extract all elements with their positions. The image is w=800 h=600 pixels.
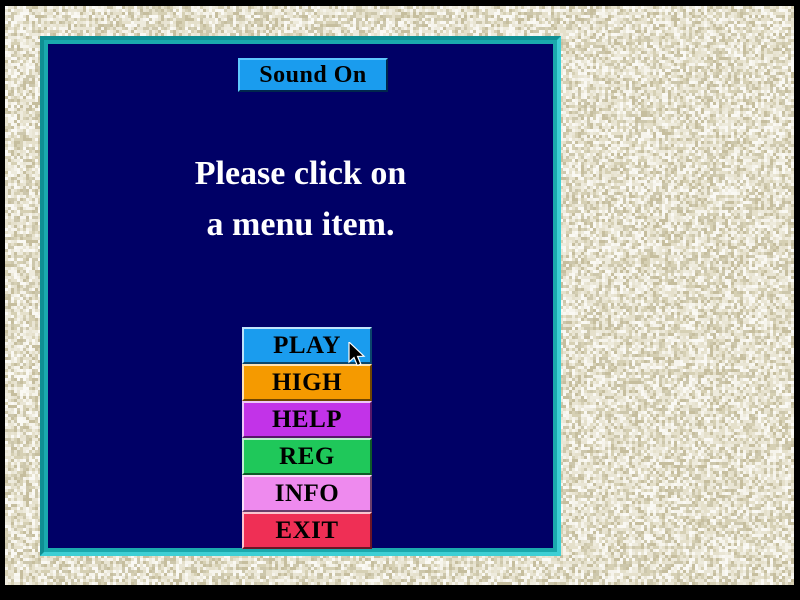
menu-button-reg[interactable]: REG (242, 438, 372, 475)
sound-toggle-label: Sound On (259, 63, 366, 87)
menu-button-help[interactable]: HELP (242, 401, 372, 438)
prompt-message: Please click on a menu item. (52, 148, 549, 250)
menu-button-exit[interactable]: EXIT (242, 512, 372, 549)
prompt-message-line-1: Please click on (52, 148, 549, 199)
menu-button-label: EXIT (275, 517, 338, 544)
game-window: Sound On Please click on a menu item. PL… (0, 0, 800, 600)
menu-button-label: HIGH (272, 369, 342, 396)
menu-button-label: REG (279, 443, 335, 470)
menu-panel: Sound On Please click on a menu item. PL… (40, 36, 561, 556)
sound-toggle-button[interactable]: Sound On (238, 58, 388, 92)
prompt-message-line-2: a menu item. (52, 199, 549, 250)
menu-button-label: PLAY (273, 332, 341, 359)
menu-button-high[interactable]: HIGH (242, 364, 372, 401)
menu-button-info[interactable]: INFO (242, 475, 372, 512)
menu-button-label: INFO (275, 480, 340, 507)
menu-panel-inner: Sound On Please click on a menu item. PL… (52, 48, 549, 544)
main-menu: PLAYHIGHHELPREGINFOEXIT (242, 327, 372, 549)
menu-button-label: HELP (272, 406, 342, 433)
menu-button-play[interactable]: PLAY (242, 327, 372, 364)
